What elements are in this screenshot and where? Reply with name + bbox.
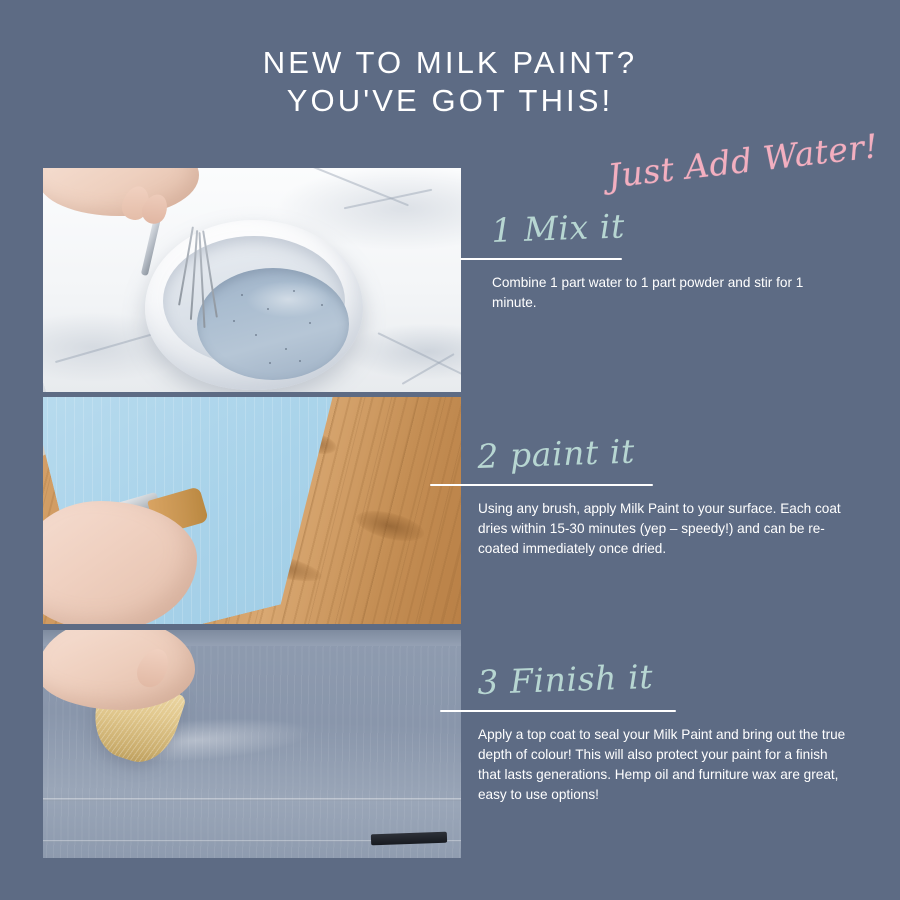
step-1-text-block: 1 Mix it Combine 1 part water to 1 part … xyxy=(492,211,832,313)
step-3-photo xyxy=(43,630,461,858)
step-3-divider xyxy=(440,710,676,712)
step-2-photo xyxy=(43,397,461,624)
page-title-line-2: YOU'VE GOT THIS! xyxy=(0,82,900,120)
step-3-heading: 3 Finish it xyxy=(477,650,850,702)
step-2-divider xyxy=(430,484,653,486)
step-2-text-block: 2 paint it Using any brush, apply Milk P… xyxy=(478,437,853,559)
step-1-heading: 1 Mix it xyxy=(491,199,832,250)
blue-milk-paint-mixture xyxy=(197,268,349,380)
step-2-body: Using any brush, apply Milk Paint to you… xyxy=(478,499,853,559)
step-1-divider xyxy=(460,258,622,260)
hand xyxy=(43,630,195,710)
page-title: NEW TO MILK PAINT? YOU'VE GOT THIS! xyxy=(0,44,900,120)
page-title-line-1: NEW TO MILK PAINT? xyxy=(263,45,637,80)
step-1-photo xyxy=(43,168,461,392)
step-2-heading: 2 paint it xyxy=(477,424,853,476)
board-seam xyxy=(43,798,461,801)
step-1-body: Combine 1 part water to 1 part powder an… xyxy=(492,273,832,313)
step-3-body: Apply a top coat to seal your Milk Paint… xyxy=(478,725,850,805)
milk-paint-instructions-graphic: NEW TO MILK PAINT? YOU'VE GOT THIS! Just… xyxy=(0,0,900,900)
script-tagline: Just Add Water! xyxy=(548,126,880,202)
step-3-text-block: 3 Finish it Apply a top coat to seal you… xyxy=(478,663,850,805)
